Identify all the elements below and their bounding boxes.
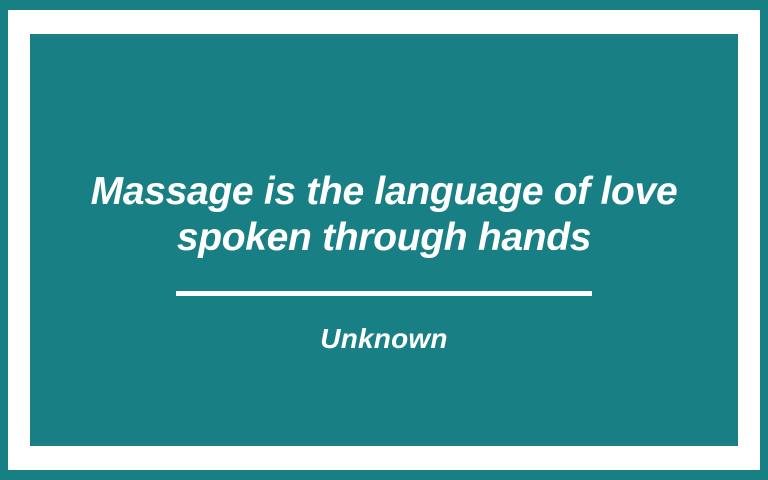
quote-text: Massage is the language of love spoken t… [77, 169, 692, 261]
white-border-frame: Massage is the language of love spoken t… [8, 10, 760, 470]
quote-block: Massage is the language of love spoken t… [30, 169, 738, 355]
quote-panel: Massage is the language of love spoken t… [30, 34, 738, 446]
divider-rule [176, 291, 592, 296]
quote-card: Massage is the language of love spoken t… [0, 0, 768, 480]
quote-attribution: Unknown [320, 323, 447, 355]
